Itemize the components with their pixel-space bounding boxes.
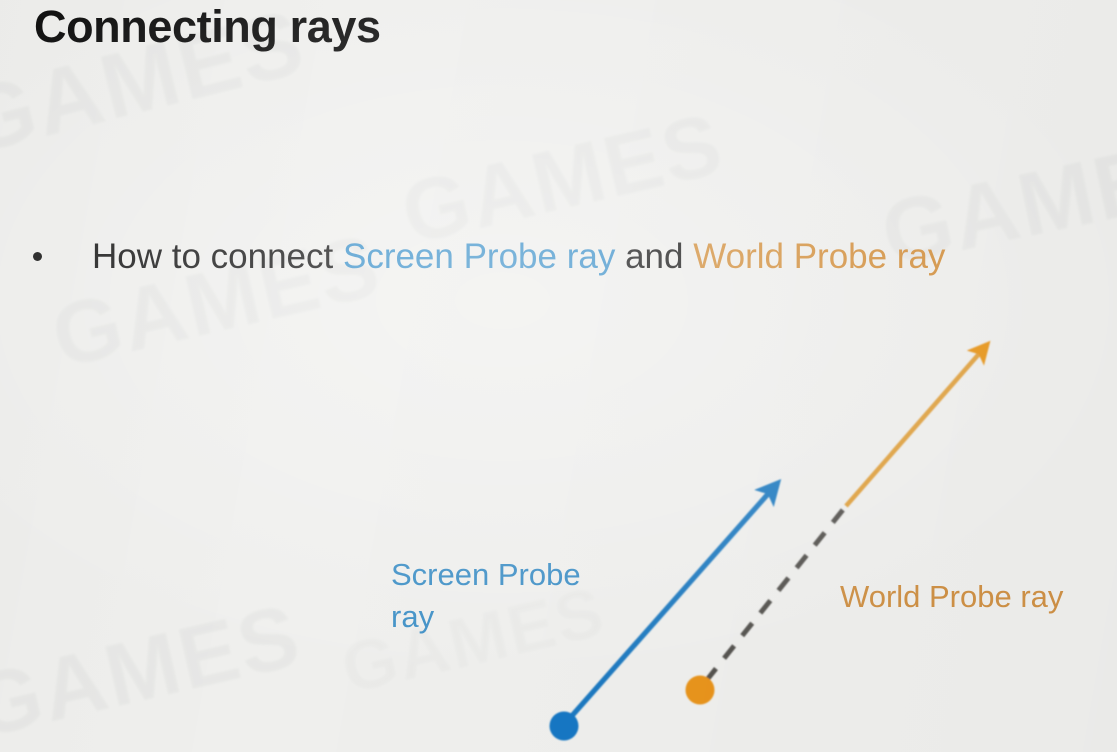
world-probe-ray-arrow [846, 347, 985, 506]
connecting-dashed-line [706, 506, 846, 681]
world-probe-ray-label: World Probe ray [840, 576, 1063, 618]
screen-probe-ray-label-line2: ray [391, 596, 631, 638]
slide-canvas: GAMES GAMES GAMES GAMES GAMES GAMES Conn… [0, 0, 1117, 752]
screen-probe-ray-label: Screen Probe ray [391, 554, 631, 638]
screen-probe-ray-label-line1: Screen Probe [391, 554, 631, 596]
ray-diagram [0, 0, 1117, 752]
world-probe-origin-dot [686, 676, 715, 705]
screen-probe-origin-dot [550, 712, 579, 741]
